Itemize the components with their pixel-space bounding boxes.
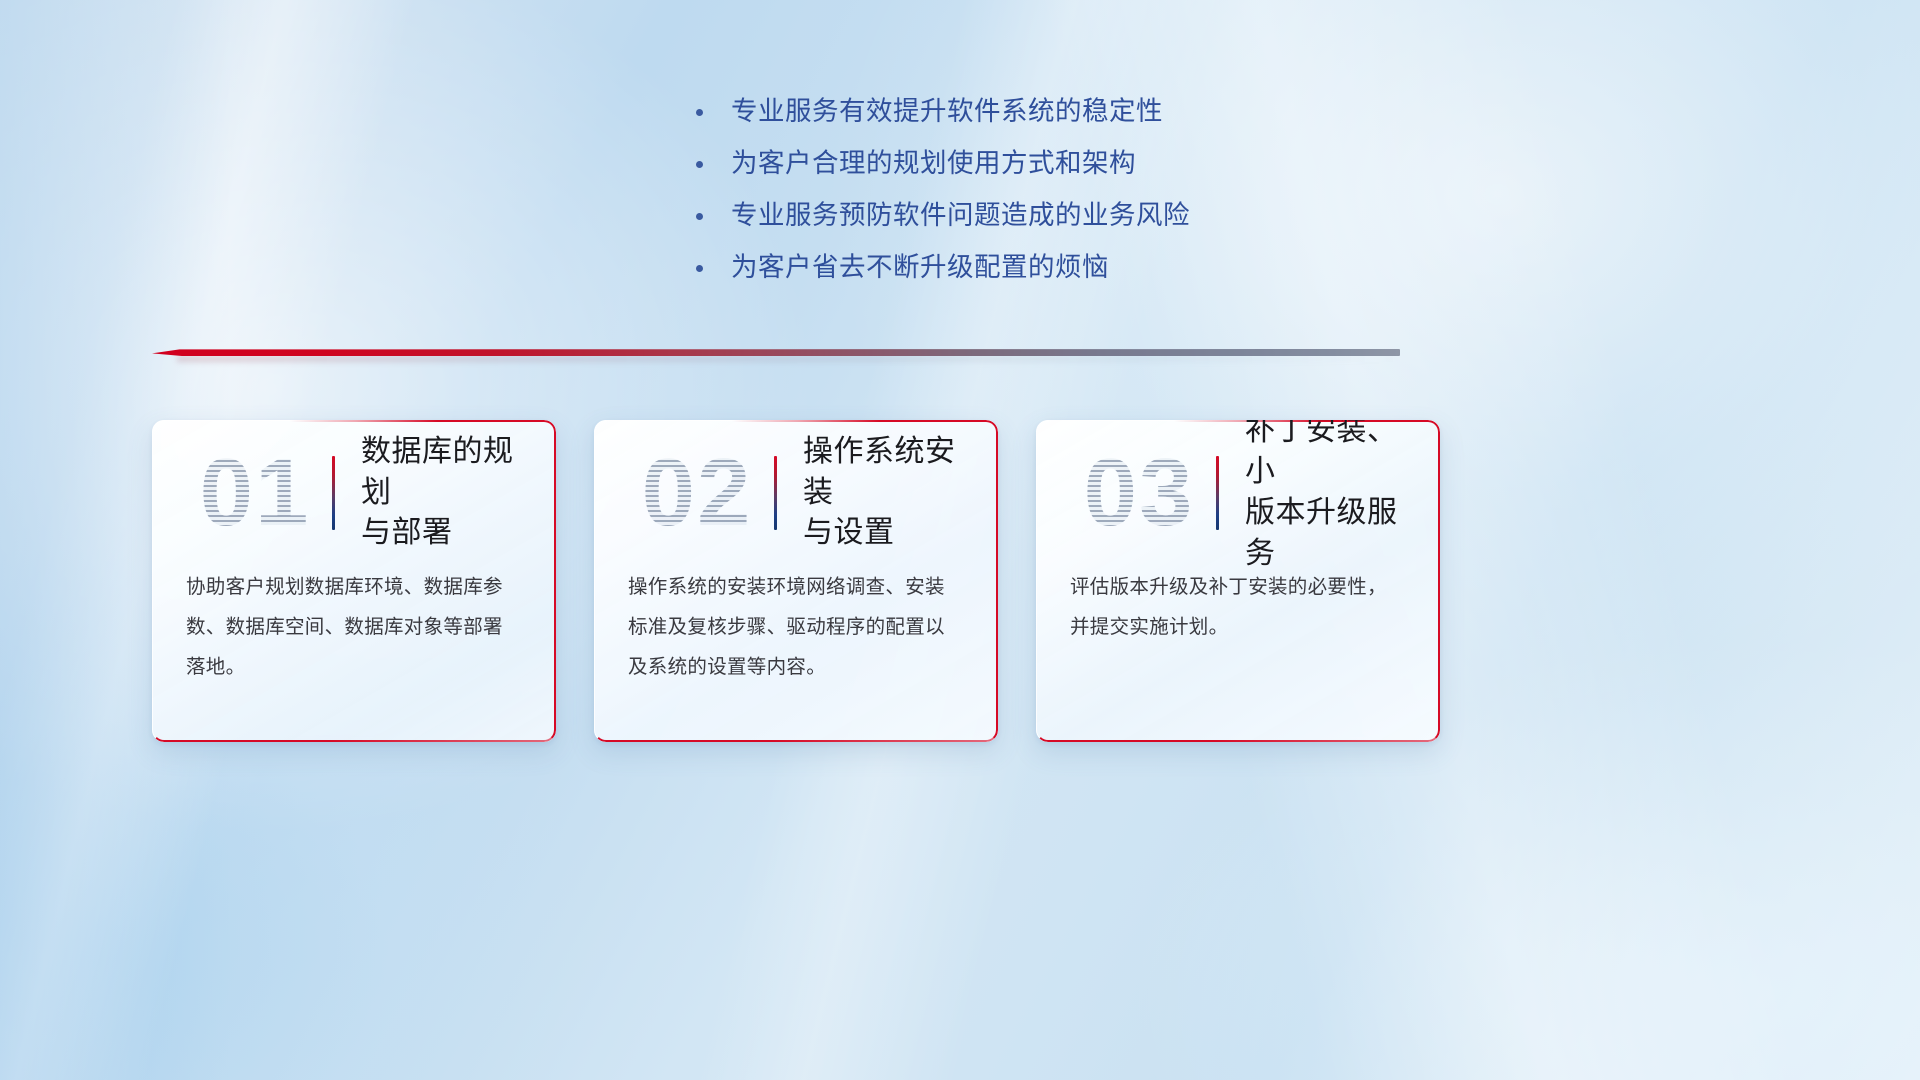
list-item: 为客户合理的规划使用方式和架构 [680, 138, 1240, 190]
card-header: 01 01 数据库的规划 与部署 [152, 420, 556, 566]
card-title: 操作系统安装 与设置 [803, 432, 998, 554]
card-number: 03 [1064, 445, 1214, 541]
card-description: 操作系统的安装环境网络调查、安装标准及复核步骤、驱动程序的配置以及系统的设置等内… [594, 566, 998, 688]
bullet-text: 专业服务有效提升软件系统的稳定性 [731, 96, 1163, 128]
card-title: 补丁安装、小 版本升级服务 [1245, 420, 1440, 575]
bullet-dot-icon [696, 109, 703, 116]
service-card-03[interactable]: 03 03 补丁安装、小 版本升级服务 评估版本升级及补丁安装的必要性，并提交实… [1036, 420, 1440, 742]
bullet-dot-icon [696, 161, 703, 168]
bullet-text: 专业服务预防软件问题造成的业务风险 [731, 200, 1190, 232]
card-description: 评估版本升级及补丁安装的必要性，并提交实施计划。 [1036, 566, 1440, 648]
list-item: 为客户省去不断升级配置的烦恼 [680, 242, 1240, 294]
service-card-01[interactable]: 01 01 数据库的规划 与部署 协助客户规划数据库环境、数据库参数、数据库空间… [152, 420, 556, 742]
bullet-dot-icon [696, 265, 703, 272]
bullet-text: 为客户省去不断升级配置的烦恼 [731, 252, 1109, 284]
card-description: 协助客户规划数据库环境、数据库参数、数据库空间、数据库对象等部署落地。 [152, 566, 556, 688]
list-item: 专业服务预防软件问题造成的业务风险 [680, 190, 1240, 242]
bullet-text: 为客户合理的规划使用方式和架构 [731, 148, 1136, 180]
card-title-rule [1216, 456, 1219, 530]
card-header: 03 03 补丁安装、小 版本升级服务 [1036, 420, 1440, 566]
service-card-02[interactable]: 02 02 操作系统安装 与设置 操作系统的安装环境网络调查、安装标准及复核步骤… [594, 420, 998, 742]
bullet-dot-icon [696, 213, 703, 220]
card-title-rule [332, 456, 335, 530]
card-header: 02 02 操作系统安装 与设置 [594, 420, 998, 566]
card-title: 数据库的规划 与部署 [361, 432, 556, 554]
card-number: 01 [180, 445, 330, 541]
card-title-rule [774, 456, 777, 530]
service-card-group: 01 01 数据库的规划 与部署 协助客户规划数据库环境、数据库参数、数据库空间… [152, 420, 1440, 742]
section-divider [152, 346, 1400, 360]
benefits-bullet-list: 专业服务有效提升软件系统的稳定性 为客户合理的规划使用方式和架构 专业服务预防软… [0, 86, 1920, 294]
section-divider-line [152, 349, 1400, 356]
list-item: 专业服务有效提升软件系统的稳定性 [680, 86, 1240, 138]
section-divider-shadow [177, 356, 1400, 362]
card-number: 02 [622, 445, 772, 541]
